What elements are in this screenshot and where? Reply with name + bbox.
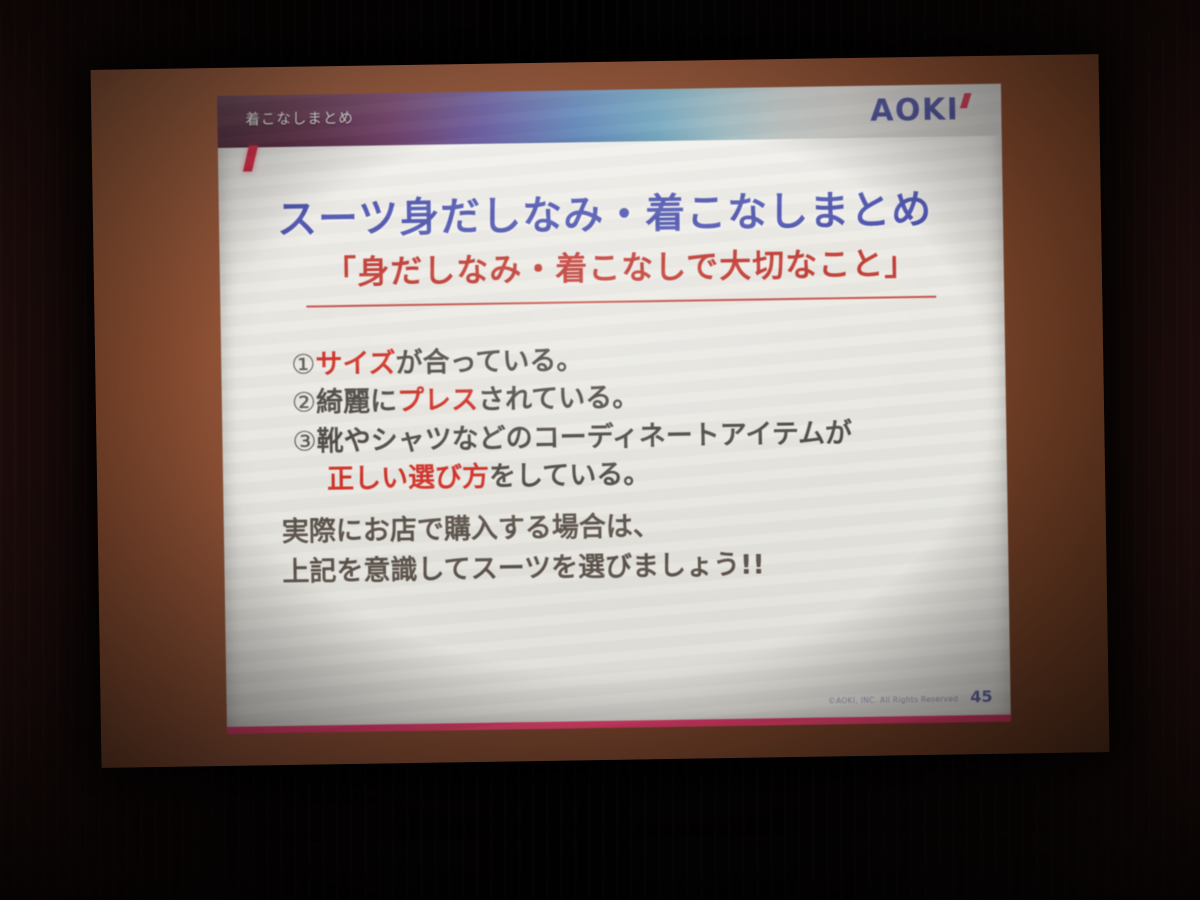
photo-scene: 着こなしまとめ AOKI スーツ身だしなみ・着こなしまとめ 「身だしなみ・着こな… bbox=[0, 0, 1200, 900]
room-vignette-overlay bbox=[0, 0, 1200, 900]
